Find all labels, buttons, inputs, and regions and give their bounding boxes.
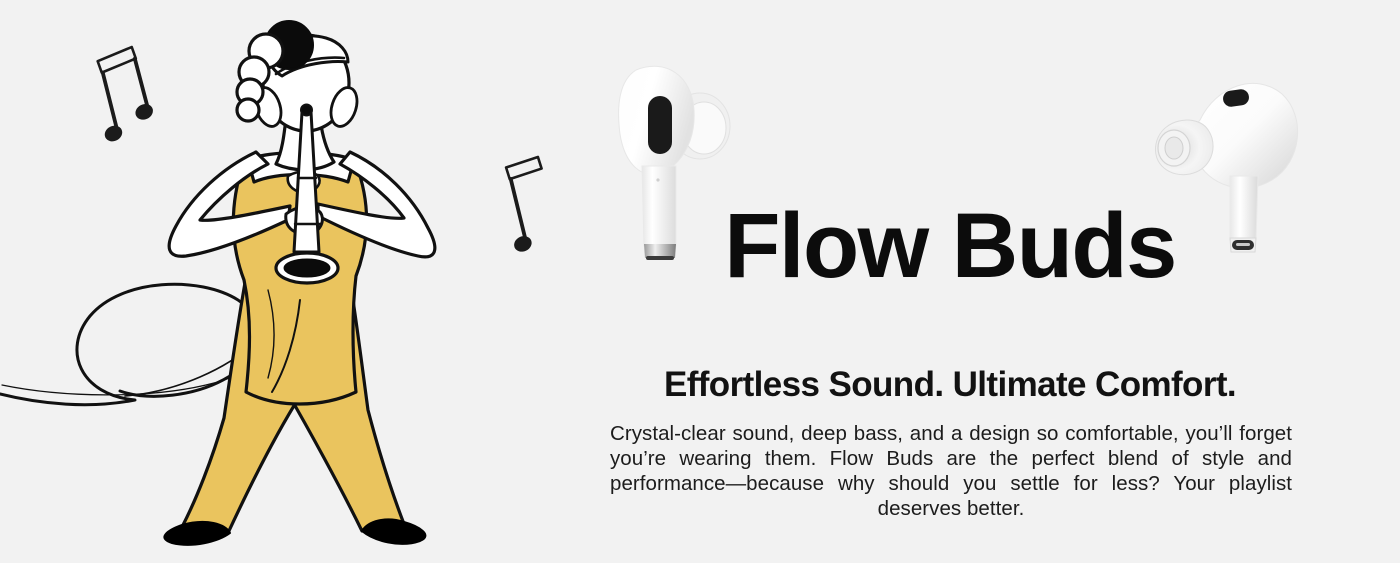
tagline: Effortless Sound. Ultimate Comfort. bbox=[600, 366, 1300, 405]
hero-text-content: Flow Buds Effortless Sound. Ultimate Com… bbox=[600, 0, 1300, 563]
shoes bbox=[164, 519, 425, 544]
page-title: Flow Buds bbox=[600, 200, 1300, 292]
single-eighth-note-icon bbox=[501, 157, 553, 255]
woman-playing-flute-illustration bbox=[0, 0, 600, 563]
flow-buds-hero-banner: Flow Buds Effortless Sound. Ultimate Com… bbox=[0, 0, 1400, 563]
beamed-eighth-notes-icon bbox=[89, 45, 160, 145]
description-paragraph: Crystal-clear sound, deep bass, and a de… bbox=[610, 421, 1292, 521]
